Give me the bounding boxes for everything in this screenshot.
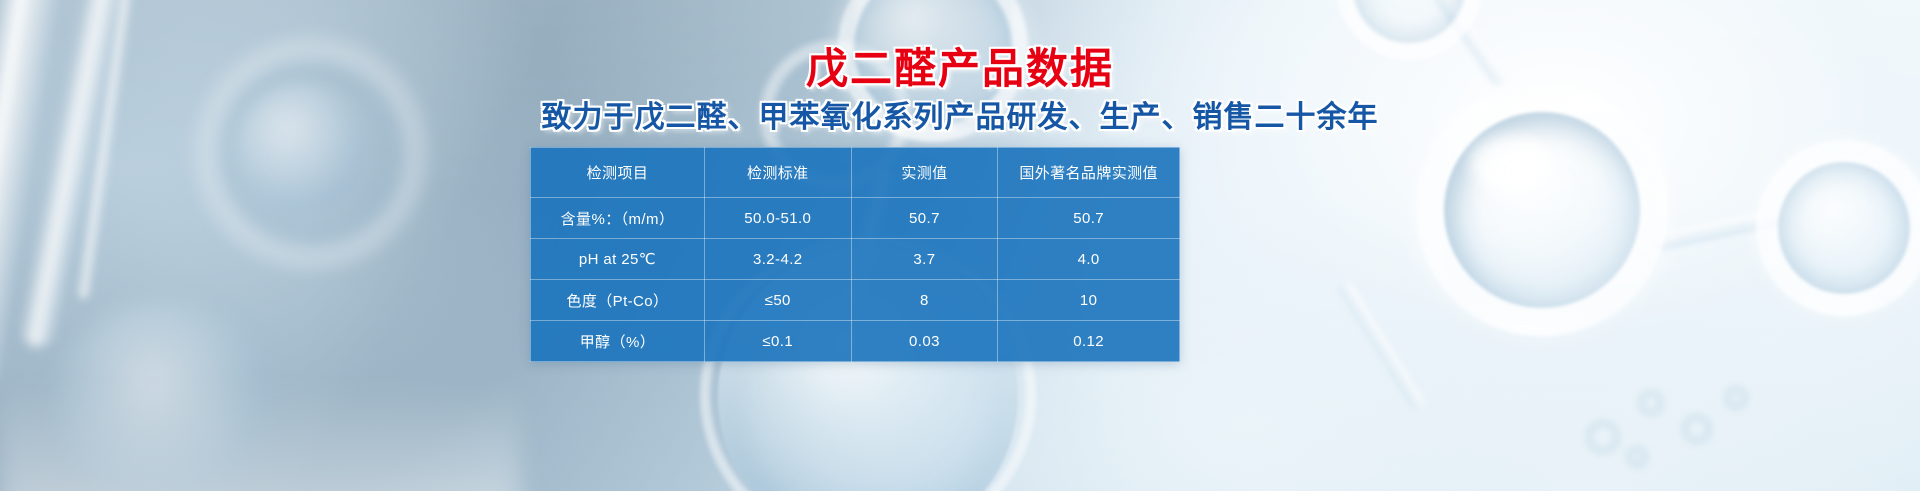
glass-reflection: [0, 381, 520, 491]
cell-test-item: 色度（Pt-Co）: [531, 280, 705, 321]
molecule-ring-icon: [1756, 140, 1920, 316]
molecule-cluster-icon: [1586, 380, 1776, 490]
cell-test-item: 含量%：（m/m）: [531, 198, 705, 239]
cell-foreign-brand-value: 0.12: [998, 321, 1180, 362]
column-header-test-item: 检测项目: [531, 148, 705, 198]
cell-test-item: pH at 25℃: [531, 239, 705, 280]
table-row: 色度（Pt-Co） ≤50 8 10: [531, 280, 1180, 321]
cell-foreign-brand-value: 50.7: [998, 198, 1180, 239]
table-row: 含量%：（m/m） 50.0-51.0 50.7 50.7: [531, 198, 1180, 239]
banner-heading-group: 戊二醛产品数据 致力于戊二醛、甲苯氧化系列产品研发、生产、销售二十余年: [0, 46, 1920, 136]
cell-test-standard: ≤0.1: [704, 321, 851, 362]
cell-test-standard: 3.2-4.2: [704, 239, 851, 280]
page-title: 戊二醛产品数据: [0, 46, 1920, 91]
product-spec-table: 检测项目 检测标准 实测值 国外著名品牌实测值 含量%：（m/m） 50.0-5…: [530, 147, 1180, 362]
cell-foreign-brand-value: 4.0: [998, 239, 1180, 280]
table-row: 甲醇（%） ≤0.1 0.03 0.12: [531, 321, 1180, 362]
product-data-banner: 戊二醛产品数据 致力于戊二醛、甲苯氧化系列产品研发、生产、销售二十余年 检测项目…: [0, 0, 1920, 491]
column-header-foreign-brand-value: 国外著名品牌实测值: [998, 148, 1180, 198]
cell-test-standard: ≤50: [704, 280, 851, 321]
cell-foreign-brand-value: 10: [998, 280, 1180, 321]
page-subtitle: 致力于戊二醛、甲苯氧化系列产品研发、生产、销售二十余年: [0, 101, 1920, 136]
cell-measured-value: 0.03: [851, 321, 998, 362]
cell-test-item: 甲醇（%）: [531, 321, 705, 362]
column-header-test-standard: 检测标准: [704, 148, 851, 198]
column-header-measured-value: 实测值: [851, 148, 998, 198]
cell-measured-value: 3.7: [851, 239, 998, 280]
cell-test-standard: 50.0-51.0: [704, 198, 851, 239]
cell-measured-value: 50.7: [851, 198, 998, 239]
cell-measured-value: 8: [851, 280, 998, 321]
table-row: pH at 25℃ 3.2-4.2 3.7 4.0: [531, 239, 1180, 280]
table-header-row: 检测项目 检测标准 实测值 国外著名品牌实测值: [531, 148, 1180, 198]
product-spec-table-container: 检测项目 检测标准 实测值 国外著名品牌实测值 含量%：（m/m） 50.0-5…: [530, 147, 1180, 362]
